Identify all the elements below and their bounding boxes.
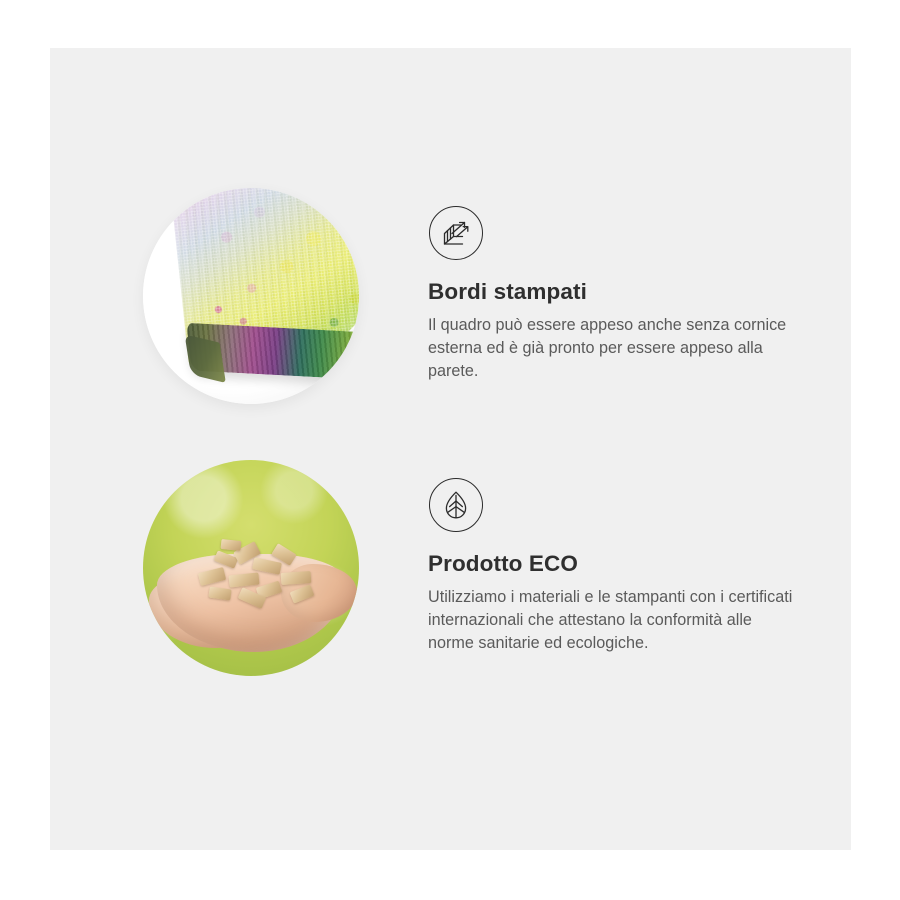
wood-chips-in-hands-photo <box>143 460 359 676</box>
wood-chips-photo-wrap <box>143 460 359 676</box>
canvas-corner-photo-wrap <box>143 188 359 404</box>
wood-chips-pile <box>195 540 319 612</box>
eco-product-text-column: Prodotto ECO Utilizziamo i materiali e l… <box>428 460 828 655</box>
printed-edges-icon <box>429 206 483 260</box>
feature-description: Il quadro può essere appeso anche senza … <box>428 314 800 383</box>
feature-title: Prodotto ECO <box>428 550 828 577</box>
feature-title: Bordi stampati <box>428 278 828 305</box>
product-feature-page: Bordi stampati Il quadro può essere appe… <box>0 0 900 900</box>
hands-holding-chips <box>149 538 353 658</box>
stretched-canvas <box>170 188 359 403</box>
leaf-icon <box>429 478 483 532</box>
content-panel: Bordi stampati Il quadro può essere appe… <box>50 48 851 850</box>
canvas-corner-photo <box>143 188 359 404</box>
printed-edges-text-column: Bordi stampati Il quadro può essere appe… <box>428 188 828 383</box>
feature-description: Utilizziamo i materiali e le stampanti c… <box>428 586 800 655</box>
